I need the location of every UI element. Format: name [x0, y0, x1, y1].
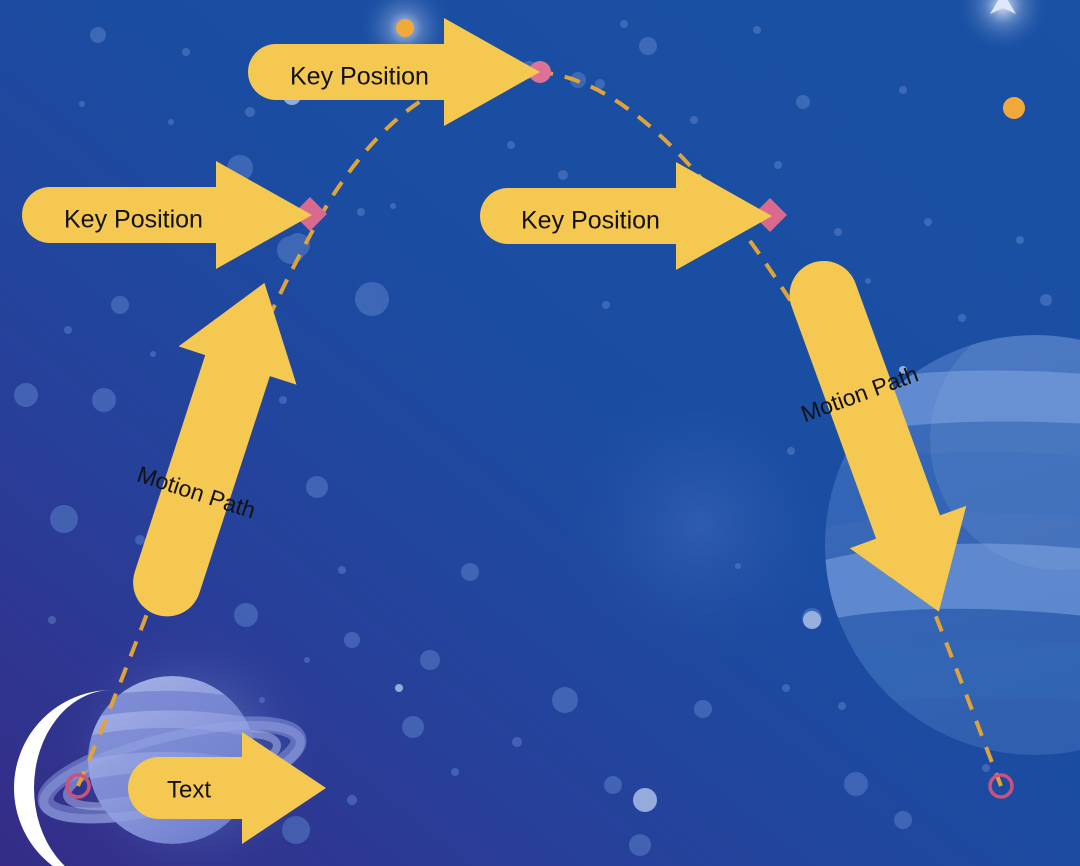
- arrow-shape: [98, 264, 324, 634]
- arrow-shape: [128, 732, 326, 844]
- callout-text[interactable]: Text: [128, 732, 326, 844]
- callout-label-right: Key Position: [521, 207, 660, 235]
- callout-label-text: Text: [167, 776, 211, 803]
- callout-label-left: Key Position: [64, 206, 203, 234]
- callout-motion-path-descending[interactable]: Motion Path: [754, 242, 997, 633]
- callout-key-position-right[interactable]: Key Position: [480, 162, 772, 270]
- callout-key-position-top[interactable]: Key Position: [248, 18, 540, 126]
- arrow-shape: [754, 242, 997, 633]
- motion-path-storyboard-canvas: Key Position Key Position Key Position T…: [0, 0, 1080, 866]
- callout-key-position-left[interactable]: Key Position: [22, 161, 312, 269]
- callout-arrows-layer: Key Position Key Position Key Position T…: [0, 0, 1080, 866]
- callout-motion-path-ascending[interactable]: Motion Path: [98, 264, 324, 634]
- callout-label-top: Key Position: [290, 63, 429, 91]
